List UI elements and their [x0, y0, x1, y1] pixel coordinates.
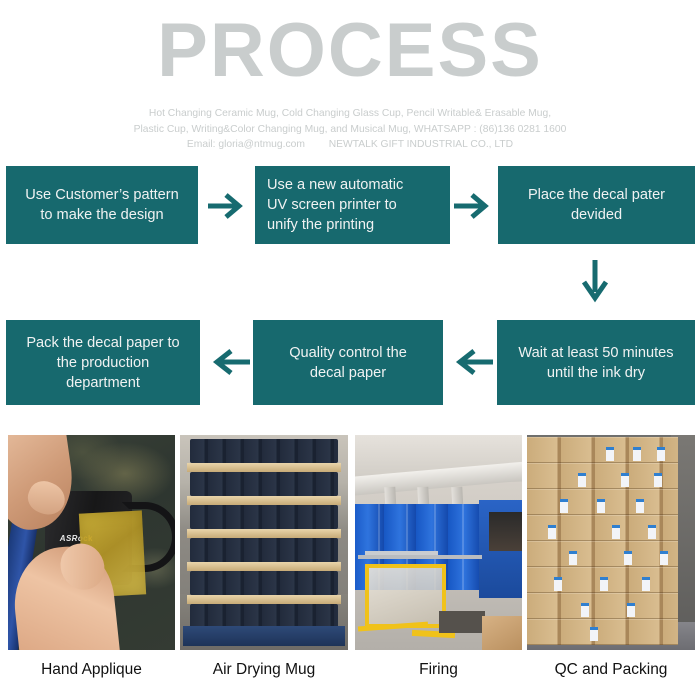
photo-firing — [355, 435, 522, 650]
wooden-shelf — [187, 595, 342, 604]
carton-row — [527, 541, 678, 567]
arrow-right-icon — [452, 190, 496, 222]
flow-step-line: decal paper — [265, 363, 431, 383]
arrow-right-icon — [206, 190, 250, 222]
photo-caption: Hand Applique — [8, 656, 175, 684]
carton-label — [578, 473, 586, 487]
contact-info-block: Hot Changing Ceramic Mug, Cold Changing … — [0, 106, 700, 153]
arrow-left-icon — [447, 345, 495, 379]
carton-label — [636, 499, 644, 513]
flow-step-line: Place the decal pater — [510, 185, 683, 205]
arrow-down-icon — [578, 258, 612, 306]
photo-caption: QC and Packing — [527, 656, 695, 684]
page-title: PROCESS — [0, 8, 700, 94]
flow-step-line: Wait at least 50 minutes — [509, 343, 683, 363]
carton-label — [590, 627, 598, 641]
mug-row — [190, 538, 338, 562]
wooden-shelf — [187, 463, 342, 472]
flow-step-line: Use Customer’s pattern — [18, 185, 186, 205]
flow-step-quality-control: Quality control the decal paper — [253, 320, 443, 405]
photo-qc-and-packing — [527, 435, 695, 650]
carton-label — [654, 473, 662, 487]
wooden-shelf — [187, 529, 342, 538]
photo-air-drying-mug — [180, 435, 348, 650]
contact-company: NEWTALK GIFT INDUSTRIAL CO., LTD — [329, 139, 513, 150]
contact-email: Email: gloria@ntmug.com — [187, 139, 305, 150]
carton-label — [600, 577, 608, 591]
cage-top-rail — [365, 551, 438, 555]
carton-label — [554, 577, 562, 591]
flow-step-line: until the ink dry — [509, 363, 683, 383]
flow-step-wait-50-minutes: Wait at least 50 minutes until the ink d… — [497, 320, 695, 405]
flow-step-pack-decal-paper: Pack the decal paper to the production d… — [6, 320, 200, 405]
carton-label — [660, 551, 668, 565]
mug-row — [190, 505, 338, 529]
carton-label — [548, 525, 556, 539]
flow-step-line: department — [18, 373, 188, 393]
flow-step-line: to make the design — [18, 205, 186, 225]
wooden-shelf — [187, 562, 342, 571]
carton-label — [612, 525, 620, 539]
carton-label — [648, 525, 656, 539]
wooden-shelf — [187, 496, 342, 505]
floor-mat — [439, 611, 486, 633]
carton-label — [597, 499, 605, 513]
carton-label — [621, 473, 629, 487]
carton-label — [560, 499, 568, 513]
carton-label — [581, 603, 589, 617]
flow-step-line: UV screen printer to — [267, 195, 438, 215]
yellow-cage-cart — [365, 564, 446, 628]
flow-step-line: Use a new automatic — [267, 175, 438, 195]
cardboard-box — [482, 616, 522, 650]
kiln-opening — [489, 512, 522, 551]
mug-row — [190, 472, 338, 496]
flow-step-line: Pack the decal paper to — [18, 333, 188, 353]
arrow-left-icon — [204, 345, 252, 379]
carton-label — [657, 447, 665, 461]
flow-step-line: unify the printing — [267, 215, 438, 235]
header: PROCESS Hot Changing Ceramic Mug, Cold C… — [0, 0, 700, 155]
carton-row — [527, 593, 678, 619]
carton-label — [642, 577, 650, 591]
conveyor-rail — [358, 555, 482, 559]
carton-label — [569, 551, 577, 565]
contact-line-email-company: Email: gloria@ntmug.com NEWTALK GIFT IND… — [0, 137, 700, 153]
flow-step-use-customer-pattern: Use Customer’s pattern to make the desig… — [6, 166, 198, 244]
carton-label — [606, 447, 614, 461]
mug-row — [190, 571, 338, 595]
carton-label — [624, 551, 632, 565]
mug-row — [190, 604, 338, 628]
carton-row — [527, 437, 678, 463]
contact-line-whatsapp: Plastic Cup, Writing&Color Changing Mug,… — [0, 122, 700, 138]
flow-step-line: Quality control the — [265, 343, 431, 363]
carton-label — [627, 603, 635, 617]
mug-row — [190, 439, 338, 463]
flow-step-uv-screen-printer: Use a new automatic UV screen printer to… — [255, 166, 450, 244]
photo-hand-applique: ASRock — [8, 435, 175, 650]
photo-caption: Air Drying Mug — [180, 656, 348, 684]
flow-step-line: the production — [18, 353, 188, 373]
contact-line-products: Hot Changing Ceramic Mug, Cold Changing … — [0, 106, 700, 122]
carton-label — [633, 447, 641, 461]
flow-step-line: devided — [510, 205, 683, 225]
rack-cart-base — [183, 626, 344, 645]
photo-caption: Firing — [355, 656, 522, 684]
carton-row — [527, 619, 678, 645]
flow-step-place-decal-paper: Place the decal pater devided — [498, 166, 695, 244]
carton-stack — [527, 435, 678, 633]
